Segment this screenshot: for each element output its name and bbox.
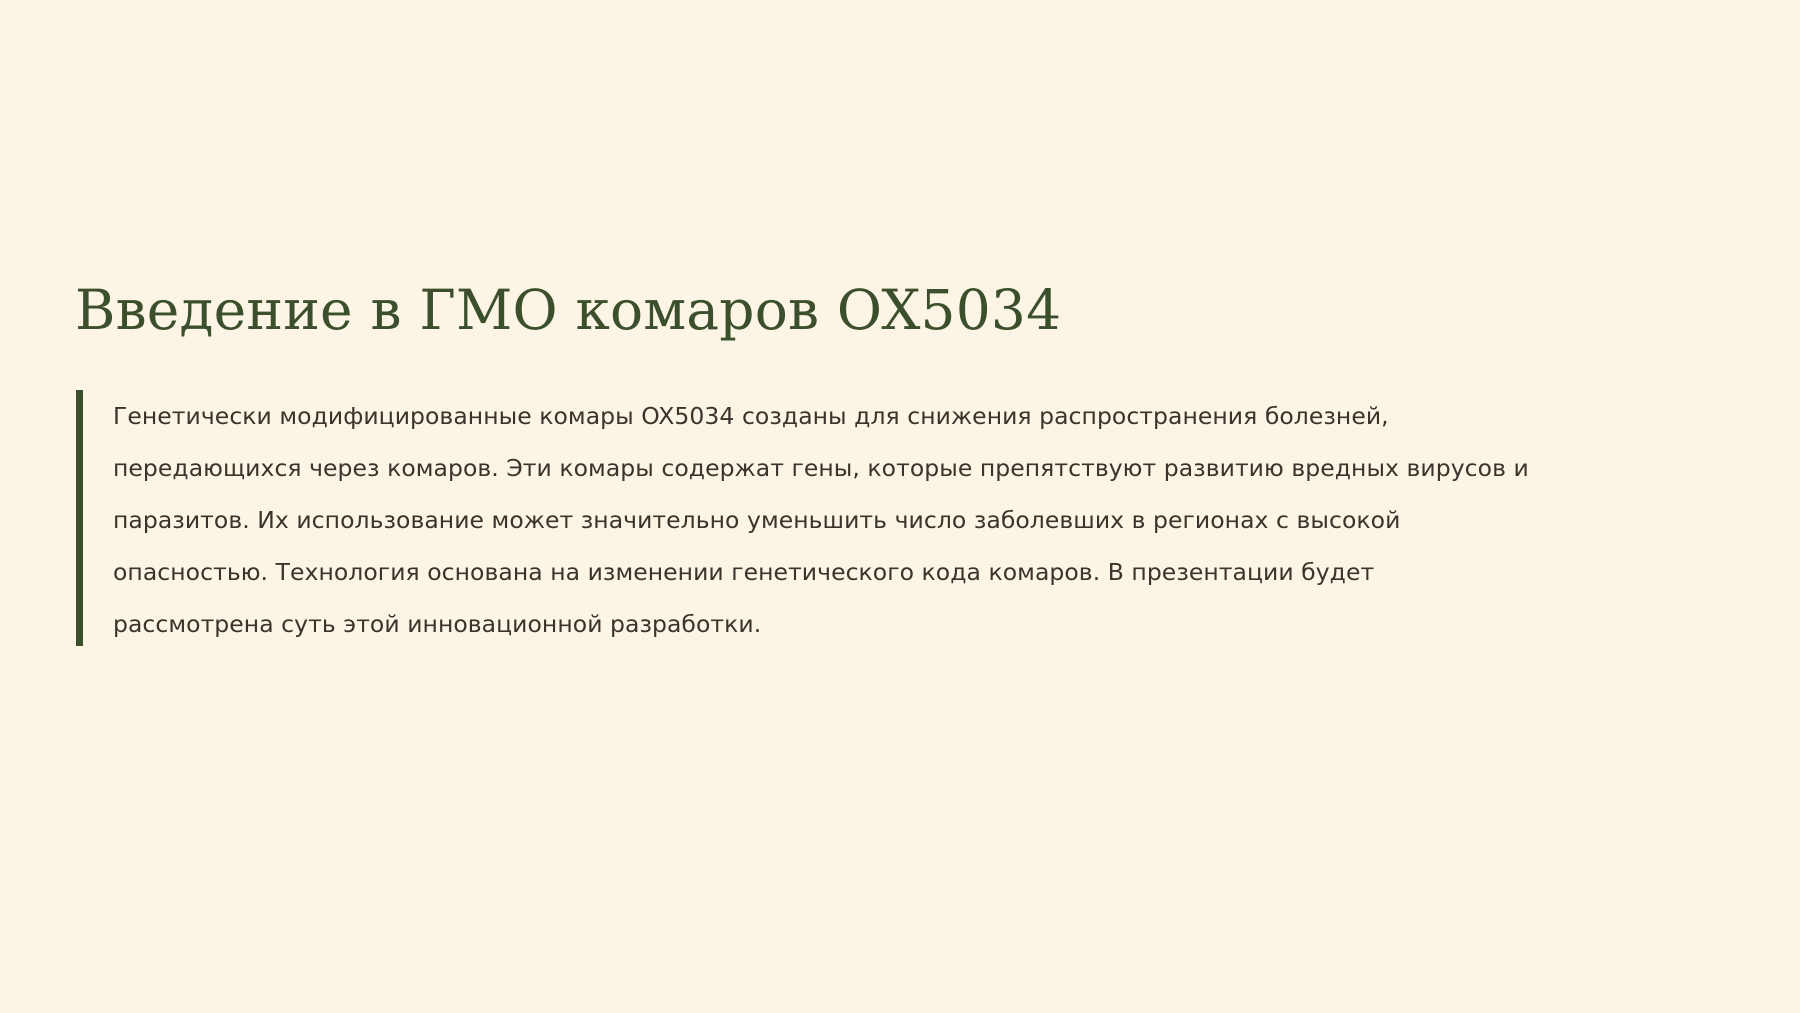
accent-bar-decoration (76, 390, 83, 646)
body-callout-block: Генетически модифицированные комары OX50… (75, 390, 1735, 650)
slide-content-container: Введение в ГМО комаров OX5034 Генетическ… (75, 278, 1735, 650)
page-title: Введение в ГМО комаров OX5034 (75, 278, 1735, 343)
body-paragraph: Генетически модифицированные комары OX50… (113, 390, 1533, 650)
presentation-slide: Введение в ГМО комаров OX5034 Генетическ… (0, 0, 1800, 1013)
